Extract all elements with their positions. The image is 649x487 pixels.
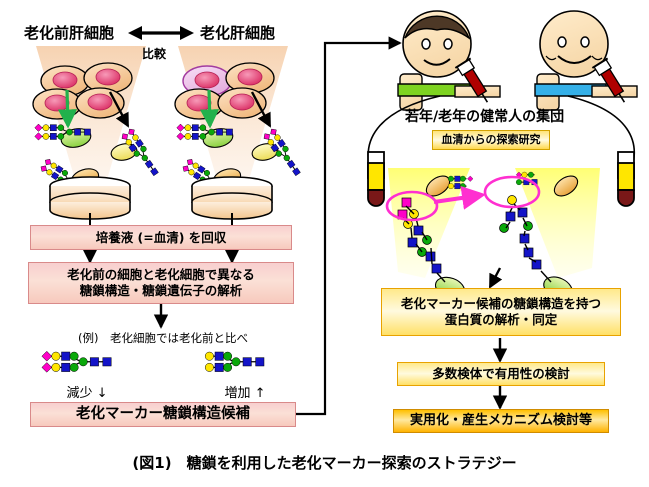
test-tube-right bbox=[618, 152, 634, 206]
secretion-arrows bbox=[67, 90, 270, 126]
compare-double-arrow bbox=[128, 26, 194, 40]
heading-pre-senescent-hepatocyte: 老化前肝細胞 bbox=[24, 22, 114, 43]
heading-senescent-hepatocyte: 老化肝細胞 bbox=[200, 22, 275, 43]
commercialization-box[interactable]: 実用化・産生メカニズム検討等 bbox=[393, 409, 609, 433]
example-glycan-increase bbox=[205, 352, 264, 372]
glycan-chains-left bbox=[35, 124, 163, 197]
population-label: 若年/老年の健常人の集団 bbox=[405, 106, 564, 126]
test-tube-left bbox=[368, 152, 384, 206]
syringe-left bbox=[455, 58, 495, 107]
compare-label: 比較 bbox=[142, 45, 166, 62]
serum-glycan-left bbox=[398, 172, 473, 303]
hepatocyte-cluster-senescent bbox=[175, 63, 274, 119]
decrease-label: 減少 ↓ bbox=[42, 382, 132, 401]
petri-dish-right bbox=[192, 177, 272, 219]
protein-identification-line2: 蛋白質の解析・同定 bbox=[445, 312, 558, 328]
marker-candidate-box[interactable]: 老化マーカー糖鎖構造候補 bbox=[30, 402, 296, 427]
petri-dish-left bbox=[50, 177, 130, 219]
person-young bbox=[398, 11, 500, 110]
serum-exploration-box[interactable]: 血清からの探索研究 bbox=[432, 130, 550, 150]
validation-box[interactable]: 多数検体で有用性の検討 bbox=[397, 362, 605, 386]
step-analysis-line2: 糖鎖構造・糖鎖遺伝子の解析 bbox=[80, 283, 243, 299]
secreted-proteins bbox=[59, 126, 279, 190]
step-analysis-box[interactable]: 老化前の細胞と老化細胞で異なる 糖鎖構造・糖鎖遺伝子の解析 bbox=[28, 262, 294, 304]
protein-identification-line1: 老化マーカー候補の糖鎖構造を持つ bbox=[401, 296, 601, 312]
person-old bbox=[535, 11, 637, 110]
protein-identification-box[interactable]: 老化マーカー候補の糖鎖構造を持つ 蛋白質の解析・同定 bbox=[381, 288, 621, 336]
analysis-beams bbox=[388, 168, 600, 278]
example-glycan-decrease bbox=[42, 351, 111, 372]
example-label: (例) 老化細胞では老化前と比べ bbox=[30, 330, 296, 346]
increase-label: 増加 ↑ bbox=[200, 382, 290, 401]
cross-column-connector bbox=[296, 43, 400, 414]
cone-left bbox=[36, 46, 146, 190]
cone-right bbox=[178, 46, 288, 190]
figure-caption: (図1) 糖鎖を利用した老化マーカー探索のストラテジー bbox=[0, 452, 649, 473]
marker-highlight bbox=[387, 177, 539, 220]
syringe-right bbox=[592, 58, 632, 107]
hepatocyte-cluster-normal bbox=[33, 63, 132, 119]
glycan-chains-right bbox=[177, 124, 305, 197]
step-collect-medium[interactable]: 培養液 (=血清) を回収 bbox=[30, 225, 292, 250]
step-analysis-line1: 老化前の細胞と老化細胞で異なる bbox=[67, 267, 255, 283]
